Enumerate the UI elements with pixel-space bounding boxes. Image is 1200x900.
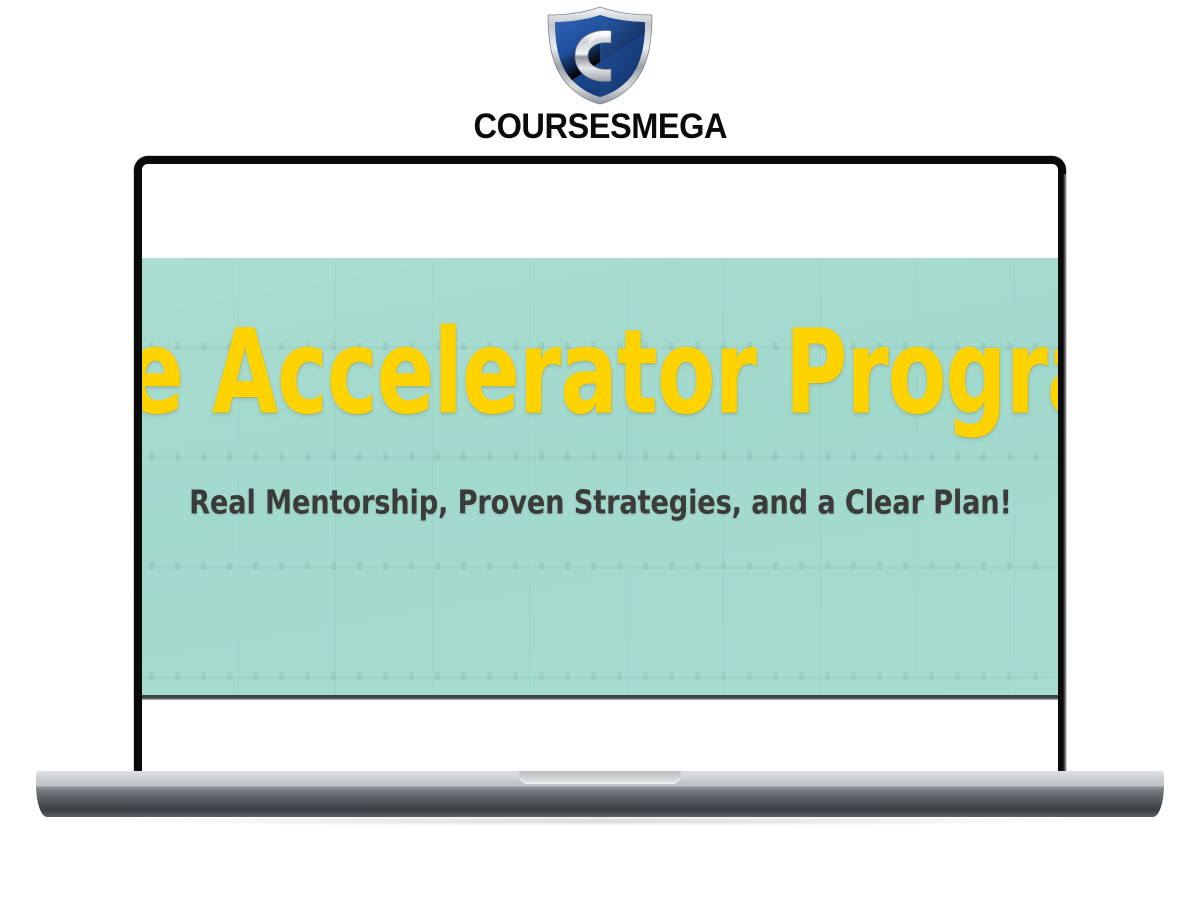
laptop-screen-bezel: The Accelerator Program Real Mentorship,… xyxy=(134,156,1066,780)
laptop-drop-shadow xyxy=(106,816,1094,826)
screenshot-canvas: COURSESMEGA The Accelerator Program Real… xyxy=(0,0,1200,900)
page-top-whitespace xyxy=(142,164,1058,258)
page-bottom-whitespace xyxy=(142,700,1058,780)
laptop-base xyxy=(36,771,1164,817)
laptop-base-open-notch xyxy=(519,771,681,784)
course-banner[interactable]: The Accelerator Program Real Mentorship,… xyxy=(142,258,1058,695)
banner-title: The Accelerator Program xyxy=(142,314,1058,430)
brand-name: COURSESMEGA xyxy=(473,108,727,146)
banner-subtitle: Real Mentorship, Proven Strategies, and … xyxy=(189,485,1012,521)
shield-c-logo-icon xyxy=(539,4,661,106)
brand-header: COURSESMEGA xyxy=(0,4,1200,152)
laptop-base-body xyxy=(36,785,1164,817)
laptop-screen-viewport[interactable]: The Accelerator Program Real Mentorship,… xyxy=(142,164,1058,780)
